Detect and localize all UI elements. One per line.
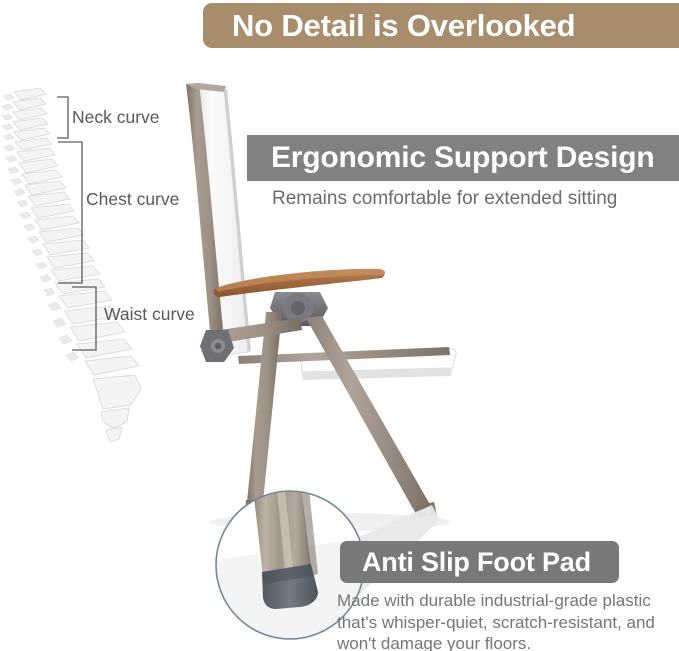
spine-label-waist-curve: Waist curve [104,304,195,325]
ergonomic-heading-text: Ergonomic Support Design [271,141,655,175]
spine-label-chest-curve: Chest curve [86,189,179,210]
ergonomic-heading-banner: Ergonomic Support Design [247,135,679,181]
foot-pad-description: Made with durable industrial-grade plast… [337,590,673,651]
title-banner-text: No Detail is Overlooked [232,8,575,44]
foot-pad-heading-banner: Anti Slip Foot Pad [340,541,619,583]
spine-brackets [57,97,96,350]
foot-pad-heading-text: Anti Slip Foot Pad [362,547,591,578]
spine-illustration [2,88,141,442]
foot-pad-description-line: won't damage your floors. [337,633,673,651]
title-banner: No Detail is Overlooked [203,3,679,48]
spine-label-neck-curve: Neck curve [72,107,160,128]
foot-pad-description-line: Made with durable industrial-grade plast… [337,590,673,612]
product-feature-image: No Detail is Overlooked Ergonomic Suppor… [0,0,679,651]
foot-pad-description-line: that's whisper-quiet, scratch-resistant,… [337,612,673,634]
ergonomic-subtitle: Remains comfortable for extended sitting [272,188,617,210]
